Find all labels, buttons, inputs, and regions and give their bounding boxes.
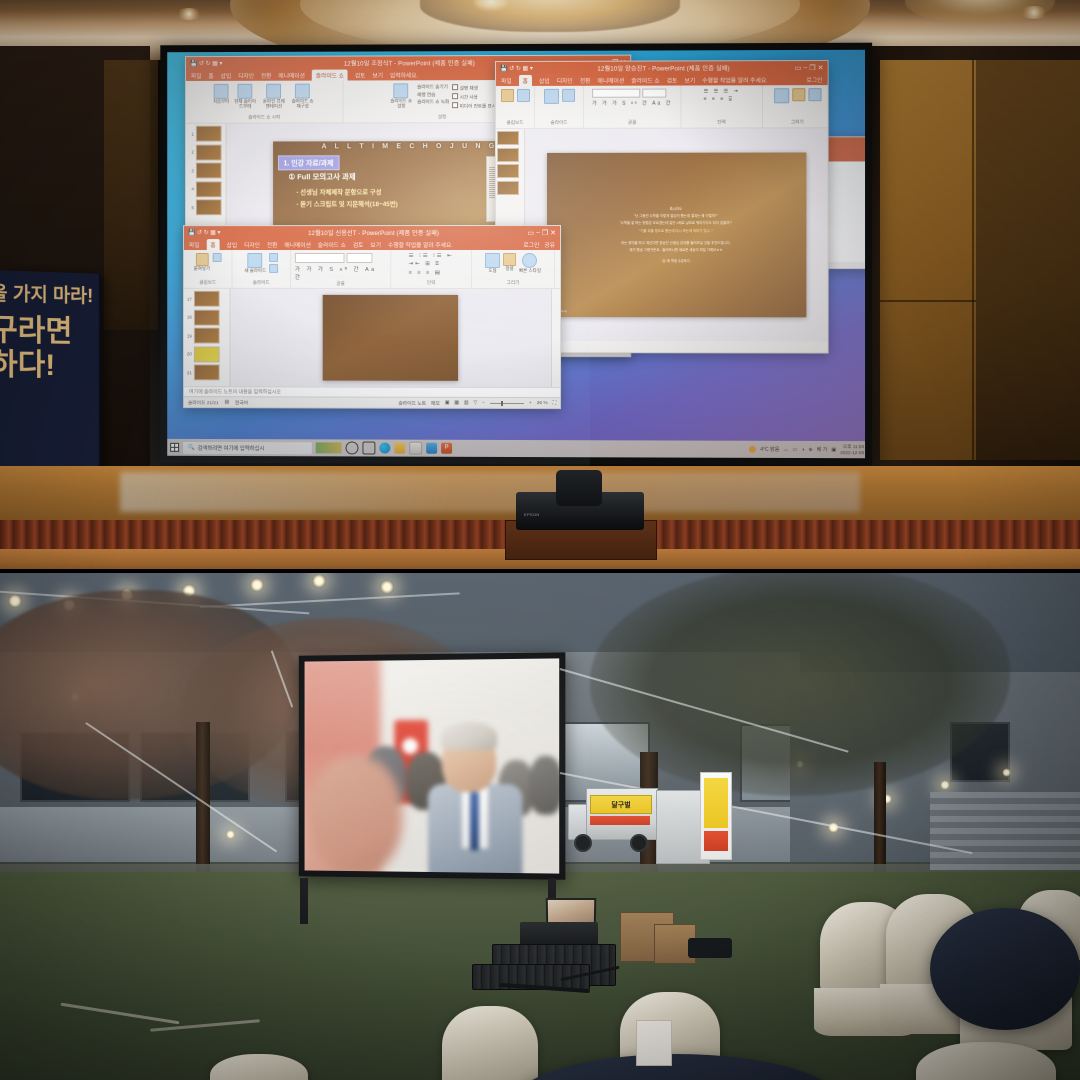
tab-file[interactable]: 파일 <box>189 240 200 249</box>
truck-sign-red <box>590 816 650 825</box>
equipment-case <box>688 938 732 958</box>
tab-review[interactable]: 검토 <box>355 70 366 79</box>
start-button[interactable] <box>170 443 179 452</box>
accessibility-icon: ▤ <box>225 400 230 405</box>
ribbon-group-drawing: 도형 정렬 빠른 스타일 <box>472 250 555 288</box>
title-bar[interactable]: 💾 ↺ ↻ ▦ ▾ 12월10일 신용선T - PowerPoint (제품 인… <box>184 226 560 239</box>
screen-surface: 💾 ↺ ↻ ▦ ▾ 12월10일 조정식T - PowerPoint (제품 인… <box>167 50 865 458</box>
screen-leg <box>300 878 308 924</box>
windows-desktop: 💾 ↺ ↻ ▦ ▾ 12월10일 조정식T - PowerPoint (제품 인… <box>167 50 865 458</box>
banner-red-panel <box>704 831 728 851</box>
action-center-icon[interactable]: ▣ <box>831 447 836 453</box>
cmd-shapes[interactable]: 도형 <box>485 253 500 273</box>
slide-thumbnail-pane[interactable]: 17 18 19 20 21 <box>184 289 230 387</box>
tab-home[interactable]: 홈 <box>206 239 219 251</box>
truck-wheel <box>574 834 592 852</box>
window-title: 12월10일 신용선T - PowerPoint (제품 인증 실패) <box>224 228 523 237</box>
cmd-rehearse-timings[interactable]: 예행 연습 <box>417 92 449 98</box>
window-body <box>828 161 865 262</box>
ribbon-tabs[interactable]: 파일 홈 삽입 디자인 전환 애니메이션 슬라이드 쇼 검토 보기 수행할 작업… <box>184 239 560 250</box>
language-indicator[interactable]: 한국어 <box>235 399 248 406</box>
slide-quote-3: "기출 외울 정도로 봤는데 다시 보는게 의미가 있나.." <box>639 228 713 233</box>
panel-divider <box>0 569 1080 573</box>
desktop-widget[interactable] <box>316 442 342 453</box>
cmd-from-current[interactable]: 현재 슬라이드부터 <box>232 84 258 109</box>
ribbon-tabs[interactable] <box>828 150 865 161</box>
tab-animations[interactable]: 애니메이션 <box>284 240 310 249</box>
slide-quote-1: "난 그동안 수학을 이렇게 열심히 했는데 결과는 왜 이럴까?" <box>634 214 718 219</box>
ribbon[interactable]: 붙여넣기 클립보드 새 슬라이드 <box>184 250 560 289</box>
system-tray[interactable]: 4°C 맑음 ︿ ▭ ◑ ⊕ 베 가 ▣ 오후 11:58 2022-12-09 <box>749 444 865 455</box>
network-icon[interactable]: ▭ <box>792 446 797 452</box>
slide-content: 혹시라도 "난 그동안 수학을 이렇게 열심히 했는데 결과는 왜 이럴까?" … <box>547 152 806 317</box>
tab-home[interactable]: 홈 <box>208 71 213 80</box>
powerpoint-icon[interactable]: P <box>441 443 452 454</box>
zoom-slider[interactable] <box>490 402 524 403</box>
volume-icon[interactable]: ◑ <box>801 446 804 452</box>
round-table <box>930 908 1080 1030</box>
quick-access-toolbar[interactable]: 💾 ↺ ↻ ▦ ▾ <box>190 60 223 67</box>
tab-design[interactable]: 디자인 <box>557 76 573 85</box>
zoom-out-button[interactable]: − <box>482 400 485 405</box>
slide-bullet-1: - 선생님 자체제작 문항으로 구성 <box>296 187 381 196</box>
check-play-narrations[interactable]: 설명 재생 <box>452 84 496 92</box>
list-item[interactable] <box>497 164 523 178</box>
tab-transitions[interactable]: 전환 <box>580 76 591 85</box>
title-bar[interactable] <box>828 137 865 150</box>
tell-me-box[interactable]: 수행할 작업을 알려 주세요. <box>702 75 768 84</box>
slide-title: 혹시라도 <box>670 207 683 212</box>
outdoor-screening-photo: 달구벌 <box>0 572 1080 1080</box>
wood-wall-panel <box>880 60 976 460</box>
cmd-from-beginning[interactable]: 처음부터 <box>213 84 229 104</box>
window-controls[interactable]: ▭ − ❐ ✕ <box>527 228 556 236</box>
truck-wheel <box>630 834 648 852</box>
list-item[interactable]: 2 <box>187 144 225 160</box>
vertical-scrollbar[interactable] <box>551 289 560 387</box>
window-controls[interactable]: ▭ − ❐ ✕ <box>795 63 824 71</box>
notes-button[interactable]: 슬라이드 노트 <box>398 399 426 406</box>
list-item[interactable]: 20 <box>185 346 229 362</box>
composite-image: 💾 ↺ ↻ ▦ ▾ 12월10일 조정식T - PowerPoint (제품 인… <box>0 0 1080 1080</box>
tab-animations[interactable]: 애니메이션 <box>597 76 624 85</box>
powerpoint-window-shinyongsun[interactable]: 💾 ↺ ↻ ▦ ▾ 12월10일 신용선T - PowerPoint (제품 인… <box>183 225 561 409</box>
lamp-light <box>1002 768 1011 777</box>
list-item[interactable]: 19 <box>185 328 229 344</box>
video-foreground-person <box>308 756 402 874</box>
status-bar: 슬라이드 21/21 ▤ 한국어 슬라이드 노트 메모 ▣ ▦ ▥ ▽ − <box>184 396 560 408</box>
projection-screen: 💾 ↺ ↻ ▦ ▾ 12월10일 조정식T - PowerPoint (제품 인… <box>160 43 872 466</box>
search-placeholder: 검색하려면 여기에 입력하십시 <box>198 443 265 451</box>
ribbon-group-slides: 슬라이드 <box>535 86 584 128</box>
tab-view[interactable]: 보기 <box>370 240 381 249</box>
outdoor-projection-screen <box>299 652 566 880</box>
menu-card-text <box>637 1021 671 1029</box>
banner-line-1: 을 가지 마라! <box>0 278 93 308</box>
slide-signature: -김○희 학생 수강후기- <box>661 258 690 263</box>
indoor-hall-photo: 💾 ↺ ↻ ▦ ▾ 12월10일 조정식T - PowerPoint (제품 인… <box>0 0 1080 572</box>
tab-slideshow[interactable]: 슬라이드 쇼 <box>631 76 659 85</box>
string-light-bulb <box>312 574 326 588</box>
cortana-icon[interactable] <box>346 441 359 454</box>
tab-insert[interactable]: 삽입 <box>221 71 232 80</box>
projector-lens-head <box>556 470 602 506</box>
cmd-present-online[interactable]: 온라인 프레젠테이션 <box>261 84 287 109</box>
ribbon-group-slides: 새 슬라이드 슬라이드 <box>232 250 290 288</box>
tab-transitions[interactable]: 전환 <box>267 240 278 249</box>
file-explorer-icon[interactable] <box>394 443 405 454</box>
video-main-subject-tie <box>470 792 479 850</box>
cmd-record-slideshow[interactable]: 슬라이드 쇼 녹화 <box>417 99 449 105</box>
cmd-custom-show[interactable]: 슬라이드 쇼 재구성 <box>290 84 316 109</box>
tab-file[interactable]: 파일 <box>501 76 512 85</box>
view-reading-icon[interactable]: ▥ <box>464 400 469 405</box>
list-item[interactable]: 5 <box>187 199 225 215</box>
view-slideshow-icon[interactable]: ▽ <box>473 400 477 405</box>
task-view-icon[interactable] <box>362 442 375 455</box>
cmd-arrange[interactable]: 정렬 <box>503 253 516 271</box>
projected-video-frame <box>305 658 560 873</box>
projector-brand-label: EPSON <box>524 512 540 517</box>
tab-slideshow[interactable]: 슬라이드 쇼 <box>318 240 346 249</box>
ime-mode-label[interactable]: 베 가 <box>817 446 828 453</box>
search-input[interactable]: 🔍 검색하려면 여기에 입력하십시 <box>183 441 312 453</box>
tab-review[interactable]: 검토 <box>353 240 364 249</box>
font-size-box[interactable] <box>347 253 373 263</box>
title-bar[interactable]: 💾 ↺ ↻ ▦ ▾ 12월10일 양승진T - PowerPoint (제품 인… <box>496 61 828 75</box>
slide-quote-2: "수학을 잘 하는 방법은 모르겠는데 일단 n제로 실모로 뭐라기라도 되지 … <box>620 221 733 226</box>
ime-icon[interactable]: ⊕ <box>808 446 812 452</box>
fit-to-window-icon[interactable]: ⛶ <box>553 400 556 406</box>
tab-home[interactable]: 홈 <box>519 74 532 86</box>
tab-view[interactable]: 보기 <box>684 75 695 84</box>
zoom-level: 26 % <box>537 401 548 406</box>
ribbon-group-slideshow-start: 처음부터 현재 슬라이드부터 온라인 프레젠테이션 <box>186 81 344 123</box>
slide-section-title: 1. 인강 자료/과제 <box>278 155 340 170</box>
list-item[interactable] <box>497 131 523 145</box>
tab-view[interactable]: 보기 <box>372 70 383 79</box>
list-item[interactable]: 4 <box>187 181 225 197</box>
tab-animations[interactable]: 애니메이션 <box>278 71 304 80</box>
video-person <box>529 756 560 815</box>
check-show-media-controls[interactable]: 미디어 컨트롤 표시 <box>452 102 496 110</box>
ceiling-spotlight <box>176 8 202 20</box>
ribbon-group-font: 가 가 가 S ᴀᴮ 간 Aa 간 글꼴 <box>291 250 391 288</box>
quick-access-toolbar[interactable]: 💾 ↺ ↻ ▦ ▾ <box>188 229 221 236</box>
tab-file[interactable]: 파일 <box>191 71 202 80</box>
tab-review[interactable]: 검토 <box>667 75 678 84</box>
slide-canvas[interactable]: 혹시라도 "난 그동안 수학을 이렇게 열심히 했는데 결과는 왜 이럴까?" … <box>525 128 828 341</box>
powerpoint-window-background[interactable] <box>827 136 865 269</box>
banquet-chair[interactable] <box>442 1006 538 1080</box>
ribbon-group-font: 가 가 가 S ᵃᵇ 간 Aa 간 글꼴 <box>584 86 681 128</box>
quick-access-toolbar[interactable]: 💾 ↺ ↻ ▦ ▾ <box>500 65 533 72</box>
ribbon[interactable]: 클립보드 슬라이드 가 가 가 S ᵃᵇ 간 Aa 간 <box>496 85 828 129</box>
taskbar-clock[interactable]: 오후 11:58 2022-12-09 <box>840 444 864 455</box>
list-item[interactable]: 3 <box>187 162 225 178</box>
list-item[interactable]: 18 <box>185 309 229 325</box>
sun-icon <box>749 446 756 453</box>
mail-icon[interactable] <box>426 443 437 454</box>
tab-insert[interactable]: 삽입 <box>539 76 550 85</box>
outdoor-screen-surface <box>305 658 560 873</box>
roll-up-banner <box>700 772 732 860</box>
list-item[interactable] <box>497 180 523 194</box>
weather-status[interactable]: 4°C 맑음 <box>760 446 779 453</box>
lamp-light <box>940 780 950 790</box>
tell-me-box[interactable]: 수행할 작업을 알려 주세요. <box>388 240 453 249</box>
signin-link[interactable]: 로그인 <box>523 240 539 249</box>
comments-button[interactable]: 메모 <box>431 399 440 406</box>
window-title: 12월10일 양승진T - PowerPoint (제품 인증 실패) <box>537 63 791 73</box>
list-item[interactable]: 17 <box>185 291 229 307</box>
tab-design[interactable]: 디자인 <box>244 240 260 249</box>
menu-card <box>636 1020 672 1066</box>
ribbon-group-clipboard: 클립보드 <box>496 86 535 128</box>
banner-yellow-panel <box>704 778 728 828</box>
chevron-up-icon[interactable]: ︿ <box>783 446 788 453</box>
ribbon-group-paragraph: ☰ ⁝☰ ⁞☰ ⇤ ⇥⇤ ⊞ ⌸ ≡ ≡ ≡ ▤ 단락 <box>391 250 472 288</box>
view-sorter-icon[interactable]: ▦ <box>454 400 459 405</box>
ribbon-group-editing: 🔍 편집 <box>555 250 561 288</box>
wood-wall-panel <box>976 60 1080 460</box>
video-flag-emblem <box>402 738 418 754</box>
string-light-bulb <box>380 580 394 594</box>
slide-bullet-2: - 듣기 스크립트 및 지문해석(18~45번) <box>296 199 397 208</box>
check-use-timings[interactable]: 시간 사용 <box>452 93 496 101</box>
string-light-bulb <box>250 578 264 592</box>
font-style-buttons[interactable]: 가 가 가 S ᴀᴮ 간 Aa 간 <box>295 265 386 281</box>
tab-insert[interactable]: 삽입 <box>227 240 238 249</box>
lamp-light <box>226 830 235 839</box>
window-body: 17 18 19 20 21 <box>184 289 560 387</box>
slide-body-1: 라는 생각을 하고 계신다면 양승진 선생님 강의를 들어보실 것을 추천드립니… <box>621 241 731 246</box>
banner-line-3: 하다! <box>0 339 55 384</box>
list-item[interactable] <box>497 147 523 161</box>
ribbon-group-clipboard: 붙여넣기 클립보드 <box>184 250 232 288</box>
slide-item-1: ① Full 모의고사 과제 <box>288 171 355 182</box>
cmd-new-slide[interactable]: 새 슬라이드 <box>244 253 266 273</box>
truck-sign-text: 달구벌 <box>591 796 651 810</box>
share-button[interactable]: 공유 <box>544 240 555 249</box>
ribbon-group-drawing: 그리기 <box>763 85 829 127</box>
tell-me-box[interactable]: 입력하세요. <box>390 70 418 79</box>
slide-count: 슬라이드 21/21 <box>188 399 219 406</box>
tab-transitions[interactable]: 전환 <box>261 71 272 80</box>
string-light-bulb <box>8 594 22 608</box>
edge-icon[interactable] <box>379 443 390 454</box>
view-normal-icon[interactable]: ▣ <box>445 400 450 405</box>
wood-wall-panel <box>104 60 158 330</box>
tab-design[interactable]: 디자인 <box>238 71 254 80</box>
video-main-subject-hair <box>441 722 497 750</box>
ribbon-group-paragraph: ☰ ☰ ☰ ⇥ ≡ ≡ ≡ ⌸ 단락 <box>681 85 763 127</box>
cmd-setup-slideshow[interactable]: 슬라이드 쇼 설정 <box>388 83 414 108</box>
truck-sign-yellow: 달구벌 <box>590 795 652 814</box>
ceiling-spotlight <box>1020 6 1048 19</box>
zoom-in-button[interactable]: + <box>529 401 532 406</box>
store-icon[interactable] <box>409 442 422 455</box>
wall-seam <box>972 60 974 460</box>
cmd-paste[interactable]: 붙여넣기 <box>194 253 210 271</box>
slide-content <box>323 295 458 381</box>
list-item[interactable]: 21 <box>185 364 229 380</box>
tab-slideshow[interactable]: 슬라이드 쇼 <box>312 69 348 81</box>
slide-canvas[interactable] <box>230 289 551 387</box>
slide-body-2: 제가 항상 그랬거든요.. 들어보시면 새로운 세상이 보일 거예요ㅎㅎ <box>629 248 722 253</box>
group-label: 슬라이드 쇼 시작 <box>248 115 280 121</box>
signin-link[interactable]: 로그인 <box>806 75 822 84</box>
windows-taskbar[interactable]: 🔍 검색하려면 여기에 입력하십시 P 4°C 맑음 <box>167 439 865 458</box>
stairs <box>930 792 1080 870</box>
cmd-hide-slide[interactable]: 슬라이드 숨기기 <box>417 84 449 90</box>
cmd-quick-styles[interactable]: 빠른 스타일 <box>519 253 541 273</box>
truck-cargo-box: 달구벌 <box>586 788 658 840</box>
clock-date: 2022-12-09 <box>840 450 864 455</box>
group-label: 설정 <box>438 114 446 120</box>
search-icon: 🔍 <box>188 444 195 450</box>
wall-seam <box>880 300 976 302</box>
font-name-box[interactable] <box>295 253 345 263</box>
list-item[interactable]: 1 <box>187 126 225 142</box>
